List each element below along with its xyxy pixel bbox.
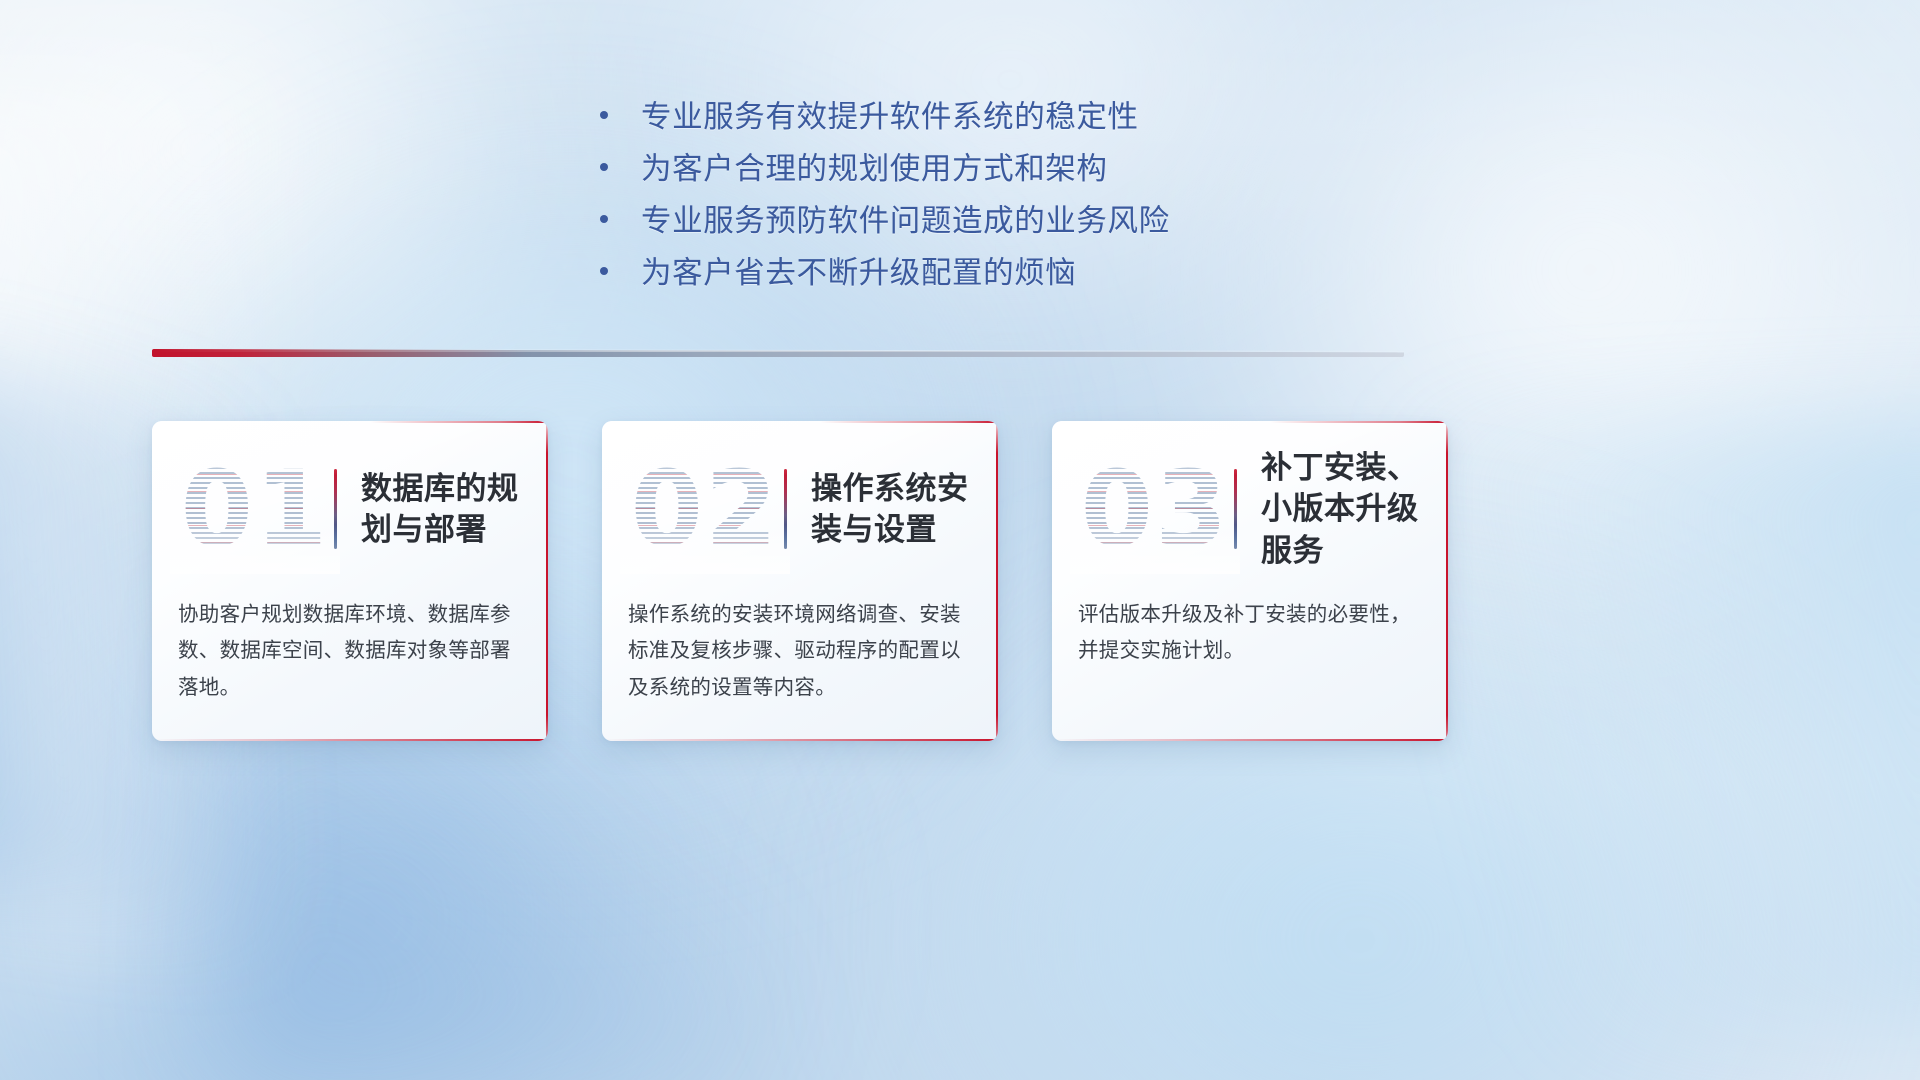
card-accent-line — [334, 469, 337, 549]
list-item: 专业服务有效提升软件系统的稳定性 — [600, 88, 1320, 140]
card-number-watermark: 02 02 — [626, 450, 784, 568]
card-number-texture-overlay: 01 — [181, 457, 330, 561]
card-bottom-accent-edge — [1052, 739, 1448, 741]
card-body-text: 操作系统的安装环境网络调查、安装标准及复核步骤、驱动程序的配置以及系统的设置等内… — [628, 597, 974, 706]
divider-highlight — [152, 349, 1404, 352]
card-body-text: 协助客户规划数据库环境、数据库参数、数据库空间、数据库对象等部署落地。 — [178, 597, 524, 706]
bullet-dot-icon — [600, 163, 608, 171]
bullet-text: 为客户省去不断升级配置的烦恼 — [641, 248, 1076, 292]
card-header: 01 01 数据库的规划与部署 — [152, 421, 548, 597]
card-title: 补丁安装、小版本升级服务 — [1261, 447, 1448, 571]
card-body-text: 评估版本升级及补丁安装的必要性，并提交实施计划。 — [1078, 597, 1424, 670]
list-item: 专业服务预防软件问题造成的业务风险 — [600, 192, 1320, 244]
bullet-text: 专业服务有效提升软件系统的稳定性 — [641, 92, 1139, 136]
bullet-dot-icon — [600, 111, 608, 119]
card-header: 02 02 操作系统安装与设置 — [602, 421, 998, 597]
card-number-watermark: 01 01 — [176, 450, 334, 568]
list-item: 为客户合理的规划使用方式和架构 — [600, 140, 1320, 192]
bullet-dot-icon — [600, 215, 608, 223]
card-number-texture-overlay: 02 — [631, 457, 780, 561]
card-number-watermark: 03 03 — [1076, 450, 1234, 568]
card-title: 数据库的规划与部署 — [361, 468, 548, 550]
card-bottom-accent-edge — [602, 739, 998, 741]
card-accent-line — [1234, 469, 1237, 549]
bullet-dot-icon — [600, 267, 608, 275]
card-title: 操作系统安装与设置 — [811, 468, 998, 550]
card-accent-line — [784, 469, 787, 549]
service-card-02[interactable]: 02 02 操作系统安装与设置 操作系统的安装环境网络调查、安装标准及复核步骤、… — [602, 421, 998, 741]
bullet-text: 专业服务预防软件问题造成的业务风险 — [641, 196, 1170, 240]
bullet-text: 为客户合理的规划使用方式和架构 — [641, 144, 1108, 188]
card-header: 03 03 补丁安装、小版本升级服务 — [1052, 421, 1448, 597]
card-number-texture-overlay: 03 — [1081, 457, 1230, 561]
service-card-01[interactable]: 01 01 数据库的规划与部署 协助客户规划数据库环境、数据库参数、数据库空间、… — [152, 421, 548, 741]
service-card-03[interactable]: 03 03 补丁安装、小版本升级服务 评估版本升级及补丁安装的必要性，并提交实施… — [1052, 421, 1448, 741]
gradient-divider-bar — [152, 349, 1404, 357]
service-cards-row: 01 01 数据库的规划与部署 协助客户规划数据库环境、数据库参数、数据库空间、… — [152, 421, 1448, 741]
card-bottom-accent-edge — [152, 739, 548, 741]
list-item: 为客户省去不断升级配置的烦恼 — [600, 244, 1320, 296]
benefits-bullet-list: 专业服务有效提升软件系统的稳定性 为客户合理的规划使用方式和架构 专业服务预防软… — [0, 88, 1920, 296]
